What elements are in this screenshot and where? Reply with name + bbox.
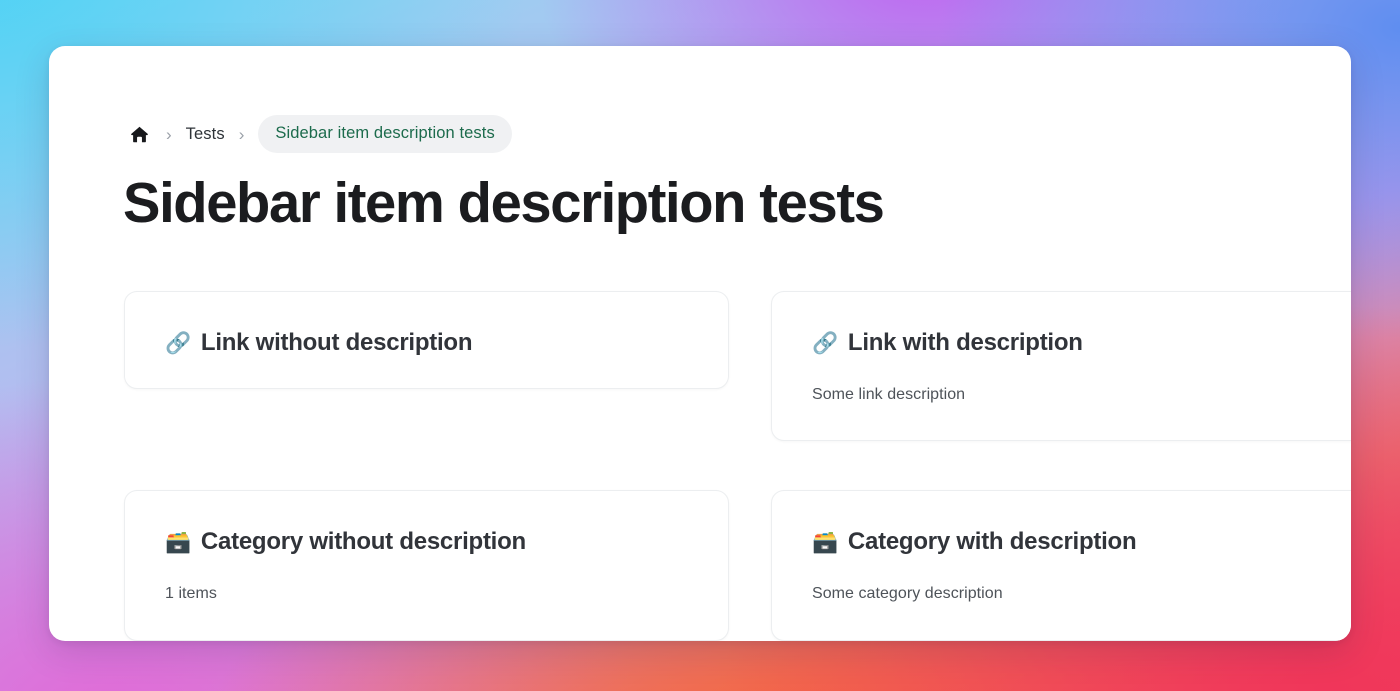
card-item-count: 1 items (165, 583, 688, 605)
card-grid: 🔗 Link without description 🔗 Link with d… (124, 291, 1351, 641)
breadcrumb-separator-1: › (152, 126, 186, 143)
card-title: 🗃️ Category without description (165, 527, 688, 557)
breadcrumb-separator-2: › (225, 126, 259, 143)
card-file-box-emoji: 🗃️ (812, 532, 838, 553)
card-category-with-description[interactable]: 🗃️ Category with description Some catego… (771, 490, 1351, 640)
card-title-text: Category with description (848, 527, 1136, 557)
card-title-text: Link with description (848, 328, 1083, 358)
card-title: 🗃️ Category with description (812, 527, 1335, 557)
link-emoji: 🔗 (165, 333, 191, 354)
breadcrumb-item-tests[interactable]: Tests (186, 125, 225, 144)
card-file-box-emoji: 🗃️ (165, 532, 191, 553)
card-title-text: Category without description (201, 527, 526, 557)
card-description: Some category description (812, 583, 1335, 605)
page-title: Sidebar item description tests (123, 174, 883, 234)
home-icon[interactable] (126, 121, 152, 147)
card-link-without-description[interactable]: 🔗 Link without description (124, 291, 729, 389)
card-category-without-description[interactable]: 🗃️ Category without description 1 items (124, 490, 729, 640)
card-link-with-description[interactable]: 🔗 Link with description Some link descri… (771, 291, 1351, 441)
card-title: 🔗 Link with description (812, 328, 1335, 358)
breadcrumb-item-current[interactable]: Sidebar item description tests (258, 115, 511, 153)
card-title-text: Link without description (201, 328, 472, 358)
link-emoji: 🔗 (812, 333, 838, 354)
main-panel: › Tests › Sidebar item description tests… (49, 46, 1351, 641)
breadcrumb: › Tests › Sidebar item description tests (126, 116, 512, 152)
card-title: 🔗 Link without description (165, 328, 688, 358)
card-description: Some link description (812, 384, 1335, 406)
